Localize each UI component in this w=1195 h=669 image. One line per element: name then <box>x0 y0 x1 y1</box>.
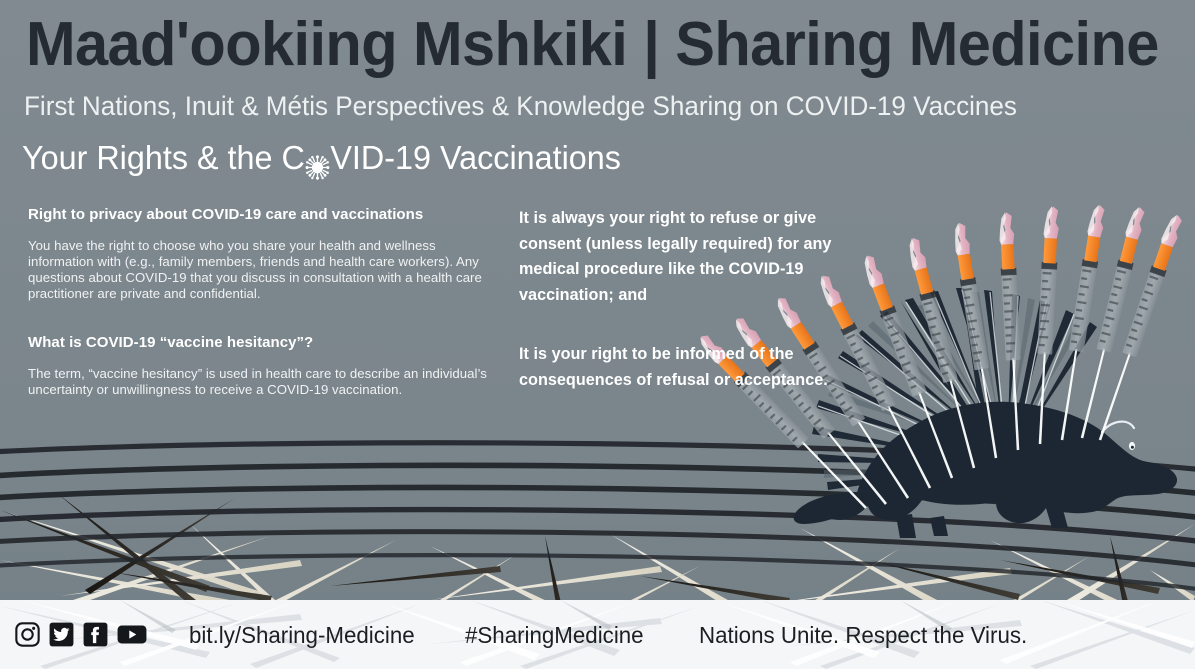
vaccine-hesitancy-block: What is COVID-19 “vaccine hesitancy”? Th… <box>28 333 493 398</box>
vaccine-hesitancy-heading: What is COVID-19 “vaccine hesitancy”? <box>28 333 493 352</box>
twitter-icon[interactable] <box>49 622 74 647</box>
footer-content-row: bit.ly/Sharing-Medicine #SharingMedicine… <box>0 600 1195 669</box>
footer-url[interactable]: bit.ly/Sharing-Medicine <box>189 621 415 649</box>
consent-statement: It is always your right to refuse or giv… <box>519 206 849 308</box>
footer-hashtag[interactable]: #SharingMedicine <box>465 621 644 649</box>
informed-statement: It is your right to be informed of the c… <box>519 342 849 393</box>
vaccine-hesitancy-body: The term, “vaccine hesitancy” is used in… <box>28 366 493 398</box>
youtube-icon[interactable] <box>117 622 147 647</box>
footer-slogan: Nations Unite. Respect the Virus. <box>699 621 1027 649</box>
poster-canvas: Maad'ookiing Mshkiki | Sharing Medicine … <box>0 0 1195 669</box>
privacy-rights-block: Right to privacy about COVID-19 care and… <box>28 205 493 302</box>
poster-footer: bit.ly/Sharing-Medicine #SharingMedicine… <box>0 600 1195 669</box>
privacy-rights-body: You have the right to choose who you sha… <box>28 238 493 302</box>
facebook-icon[interactable] <box>83 622 108 647</box>
left-content-column: Right to privacy about COVID-19 care and… <box>28 205 493 399</box>
privacy-rights-heading: Right to privacy about COVID-19 care and… <box>28 205 493 224</box>
social-icon-group <box>15 622 147 647</box>
right-content-column: It is always your right to refuse or giv… <box>519 206 849 394</box>
instagram-icon[interactable] <box>15 622 40 647</box>
